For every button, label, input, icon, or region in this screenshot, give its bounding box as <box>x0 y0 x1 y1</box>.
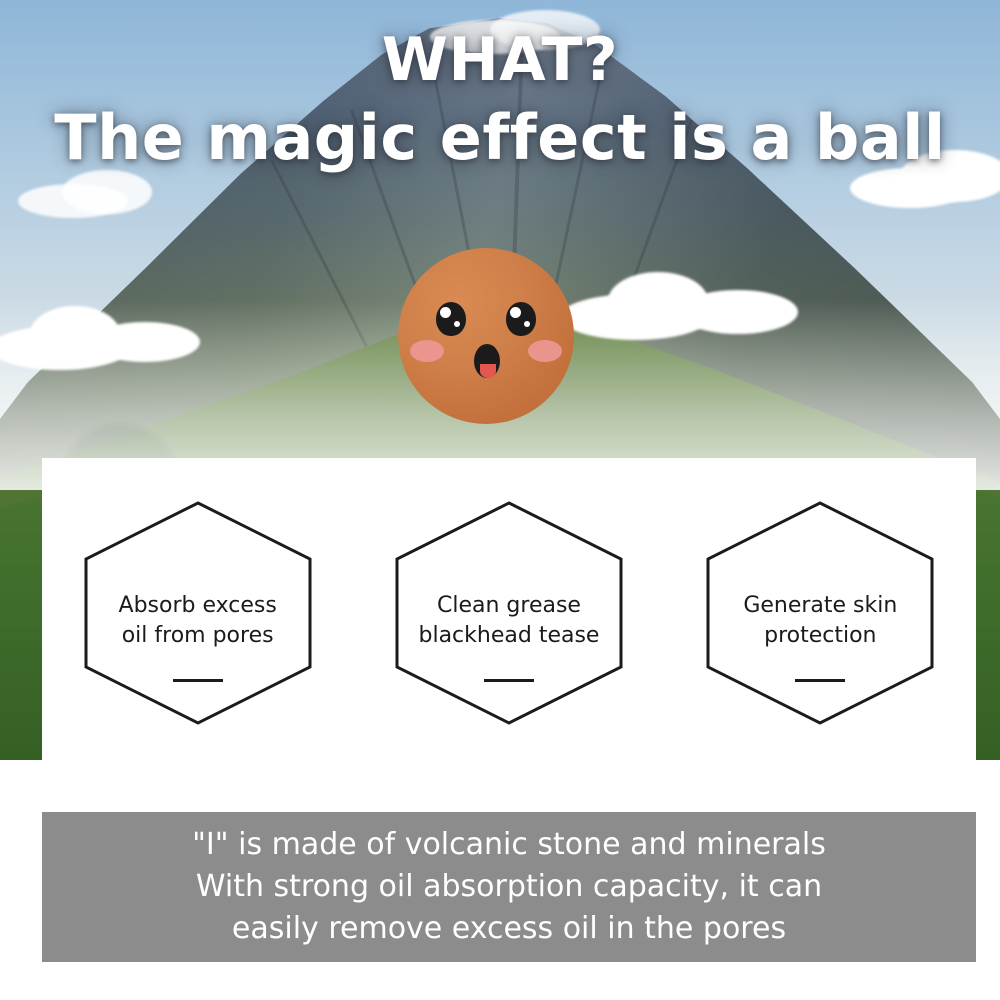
cheek-left <box>410 340 444 362</box>
feature-label: Clean grease blackhead tease <box>393 591 625 651</box>
headline-line-1: WHAT? <box>0 28 1000 92</box>
hexagon-outline: Absorb excess oil from pores <box>82 499 314 727</box>
headline-line-2: The magic effect is a ball <box>0 100 1000 176</box>
ball-body <box>398 248 574 424</box>
caption-line-3: easily remove excess oil in the pores <box>42 908 976 950</box>
features-panel: Absorb excess oil from pores Clean greas… <box>42 458 976 768</box>
mascot-ball <box>398 248 574 424</box>
cheek-right <box>528 340 562 362</box>
feature-label-line-1: Clean grease <box>393 591 625 621</box>
feature-label-line-1: Absorb excess <box>82 591 314 621</box>
eye-left-icon <box>436 302 466 336</box>
caption-line-2: With strong oil absorption capacity, it … <box>42 866 976 908</box>
hexagon-outline: Clean grease blackhead tease <box>393 499 625 727</box>
feature-label-line-2: blackhead tease <box>393 621 625 651</box>
feature-item: Generate skin protection <box>665 458 976 768</box>
hexagon-outline: Generate skin protection <box>704 499 936 727</box>
divider-dash <box>484 679 534 682</box>
feature-label-line-1: Generate skin <box>704 591 936 621</box>
caption-text: "I" is made of volcanic stone and minera… <box>42 824 976 950</box>
feature-label: Absorb excess oil from pores <box>82 591 314 651</box>
caption-line-1: "I" is made of volcanic stone and minera… <box>42 824 976 866</box>
divider-dash <box>795 679 845 682</box>
headline: WHAT? The magic effect is a ball <box>0 28 1000 176</box>
feature-label-line-2: protection <box>704 621 936 651</box>
product-poster: WHAT? The magic effect is a ball Abso <box>0 0 1000 1000</box>
feature-label: Generate skin protection <box>704 591 936 651</box>
feature-label-line-2: oil from pores <box>82 621 314 651</box>
caption-bar: "I" is made of volcanic stone and minera… <box>42 812 976 962</box>
divider-dash <box>173 679 223 682</box>
tongue-icon <box>480 364 496 378</box>
feature-item: Absorb excess oil from pores <box>42 458 353 768</box>
eye-right-icon <box>506 302 536 336</box>
feature-item: Clean grease blackhead tease <box>353 458 664 768</box>
